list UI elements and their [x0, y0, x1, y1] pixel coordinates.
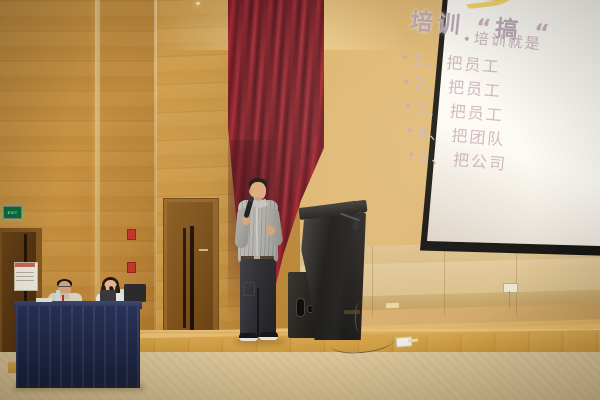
bullet-dot-icon	[409, 152, 413, 156]
center-door-gap	[183, 228, 186, 328]
microphone-head-icon	[248, 196, 254, 202]
cable-tape	[344, 310, 360, 315]
wall-panel-seam	[444, 246, 445, 316]
presenter-left-sole	[239, 338, 258, 341]
stage-cable	[355, 302, 368, 332]
head-table-skirt-folds	[16, 306, 140, 388]
glasses-icon	[58, 286, 71, 290]
bag	[124, 284, 146, 302]
bullet-dot-icon	[407, 128, 411, 132]
bullet-dot-icon	[404, 79, 408, 83]
loudspeaker-handle-icon	[296, 298, 305, 317]
cable-tape	[386, 303, 399, 308]
presenter-shirt-placket	[256, 202, 258, 258]
exit-sign-label: EXIT	[8, 211, 18, 215]
exit-sign-icon: EXIT	[3, 206, 22, 219]
notice-text-line	[16, 276, 34, 277]
presenter-right-sole	[259, 337, 278, 340]
fire-alarm-icon[interactable]	[127, 229, 136, 240]
fire-alarm-icon[interactable]	[127, 262, 136, 273]
notice-text-line	[16, 272, 34, 273]
paper-on-table	[36, 298, 52, 302]
bullet-dot-icon	[403, 55, 407, 59]
presenter-pocket	[243, 282, 255, 296]
notice-text-line	[16, 280, 34, 281]
center-door-opening	[190, 226, 194, 330]
bullet-number: 1、	[412, 46, 444, 73]
door-handle-icon[interactable]	[199, 249, 208, 251]
head-table-shadow	[14, 384, 144, 391]
wall-notice-header	[15, 263, 35, 267]
wall-panel-seam	[372, 246, 373, 316]
presenter-right-hand	[266, 226, 275, 235]
presenter-leg-separation	[257, 288, 259, 336]
presenter-ear	[249, 189, 252, 194]
wall-socket-icon	[503, 283, 518, 293]
socket-cable	[509, 291, 510, 309]
wall-panel-seam	[516, 246, 517, 316]
ceiling-lamp-icon	[196, 2, 200, 5]
photo-scene: EXIT 培训 “搞 “ 培训就是 1、 把员工 2、	[0, 0, 600, 400]
bullet-dot-icon	[406, 104, 410, 108]
